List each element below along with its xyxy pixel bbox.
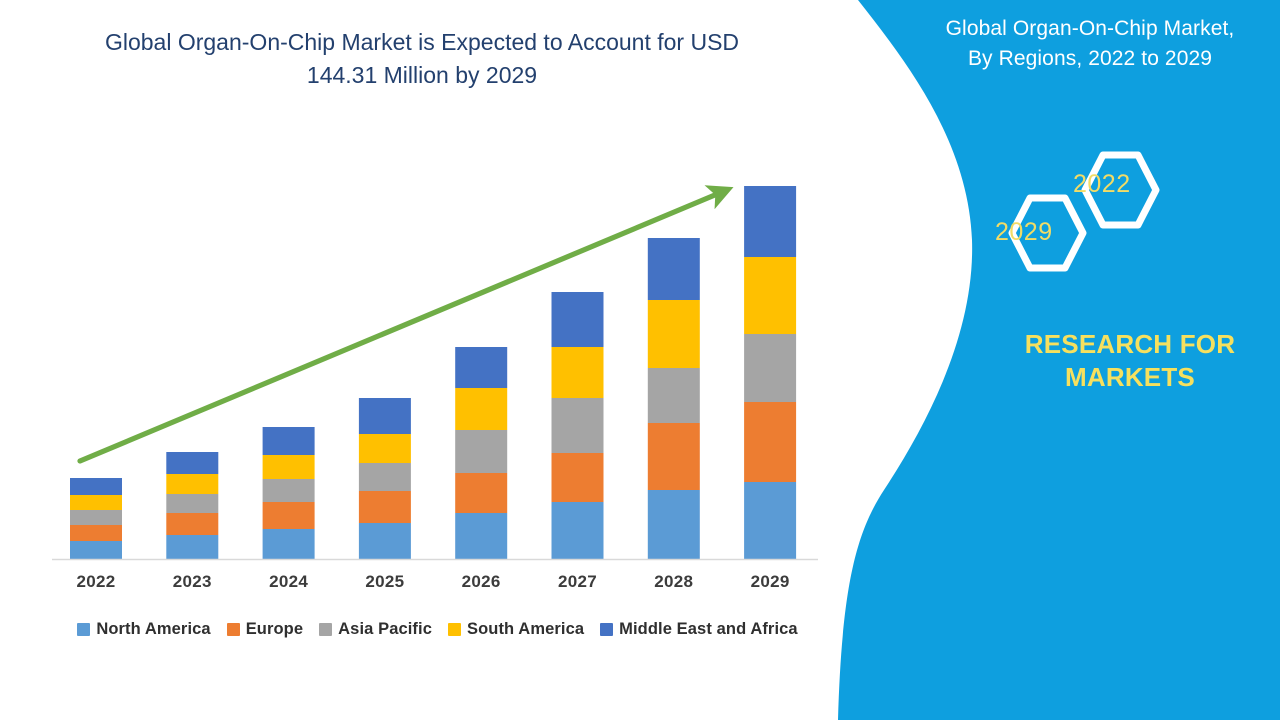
bar-segment <box>744 334 796 402</box>
legend-swatch-icon <box>77 623 90 636</box>
legend-item-europe[interactable]: Europe <box>227 620 303 639</box>
bar-segment <box>359 398 411 434</box>
brand-panel-title: Global Organ-On-Chip Market, By Regions,… <box>900 14 1280 75</box>
brand-logo-line-1: RESEARCH FOR <box>1000 328 1260 361</box>
legend-label: Asia Pacific <box>338 620 432 639</box>
bar-segment <box>359 463 411 491</box>
legend-label: South America <box>467 620 584 639</box>
legend-item-middle-east-and-africa[interactable]: Middle East and Africa <box>600 620 798 639</box>
x-tick-2023: 2023 <box>152 572 232 592</box>
hexagon-2029-label: 2029 <box>995 218 1053 247</box>
bar-segment <box>359 523 411 559</box>
bar-segment <box>552 398 604 453</box>
bar-segment <box>263 427 315 455</box>
legend-label: Middle East and Africa <box>619 620 798 639</box>
bar-segment <box>552 347 604 398</box>
bar-segment <box>455 473 507 513</box>
bar-segment <box>455 388 507 430</box>
bar-segment <box>263 529 315 559</box>
x-tick-2028: 2028 <box>634 572 714 592</box>
bar-segment <box>648 490 700 559</box>
bar-segment <box>70 541 122 559</box>
bar-segment <box>166 513 218 535</box>
brand-logo: RESEARCH FOR MARKETS <box>1000 328 1260 393</box>
x-tick-2024: 2024 <box>249 572 329 592</box>
bar-segment <box>552 453 604 502</box>
x-tick-2026: 2026 <box>441 572 521 592</box>
bar-segment <box>455 347 507 388</box>
bar-segment <box>263 502 315 529</box>
bar-segment <box>70 478 122 495</box>
bar-segment <box>263 479 315 502</box>
bar-segment <box>744 186 796 257</box>
x-tick-2029: 2029 <box>730 572 810 592</box>
bar-segment <box>648 368 700 423</box>
x-tick-2027: 2027 <box>538 572 618 592</box>
bar-segment <box>70 495 122 510</box>
bar-segment <box>648 423 700 490</box>
bar-segment <box>552 502 604 559</box>
infographic-canvas: Global Organ-On-Chip Market, By Regions,… <box>0 0 1280 720</box>
legend-swatch-icon <box>448 623 461 636</box>
bar-segment <box>744 257 796 334</box>
stacked-bar-chart <box>0 0 860 600</box>
bar-segment <box>70 525 122 541</box>
bars-group <box>70 186 796 559</box>
hexagon-2022-label: 2022 <box>1073 170 1131 199</box>
legend-swatch-icon <box>600 623 613 636</box>
bar-segment <box>166 494 218 513</box>
legend-label: Europe <box>246 620 303 639</box>
bar-segment <box>648 238 700 300</box>
bar-segment <box>359 491 411 523</box>
bar-segment <box>455 430 507 473</box>
legend-swatch-icon <box>319 623 332 636</box>
hexagon-badges: 2022 2029 <box>985 140 1185 285</box>
bar-segment <box>455 513 507 559</box>
legend-item-south-america[interactable]: South America <box>448 620 584 639</box>
bar-segment <box>166 474 218 494</box>
x-tick-2025: 2025 <box>345 572 425 592</box>
legend-item-north-america[interactable]: North America <box>77 620 210 639</box>
x-tick-2022: 2022 <box>56 572 136 592</box>
legend-item-asia-pacific[interactable]: Asia Pacific <box>319 620 432 639</box>
x-axis-labels: 20222023202420252026202720282029 <box>0 572 820 598</box>
bar-segment <box>648 300 700 368</box>
legend-swatch-icon <box>227 623 240 636</box>
legend-label: North America <box>96 620 210 639</box>
bar-segment <box>552 292 604 347</box>
chart-legend: North AmericaEuropeAsia PacificSouth Ame… <box>55 617 820 641</box>
bar-segment <box>263 455 315 479</box>
brand-title-line-1: Global Organ-On-Chip Market, <box>900 14 1280 44</box>
bar-segment <box>166 535 218 559</box>
brand-title-line-2: By Regions, 2022 to 2029 <box>900 44 1280 74</box>
bar-segment <box>166 452 218 474</box>
bar-segment <box>359 434 411 463</box>
bar-segment <box>744 402 796 482</box>
bar-segment <box>744 482 796 559</box>
brand-logo-line-2: MARKETS <box>1000 361 1260 394</box>
bar-segment <box>70 510 122 525</box>
